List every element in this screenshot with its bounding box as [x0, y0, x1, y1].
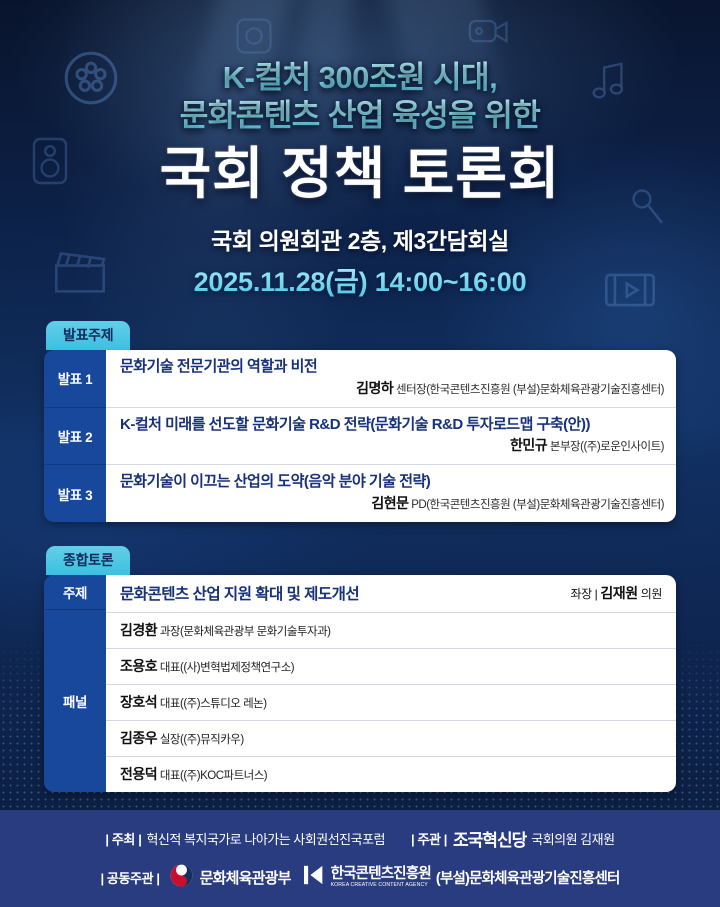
panelist-name: 김종우	[120, 730, 157, 746]
kocca-center-name: (부설)문화체육관광기술진흥센터	[436, 867, 620, 888]
presentation-label: 발표 2	[44, 408, 106, 466]
kocca-text: 한국콘텐츠진흥원 KOREA CREATIVE CONTENT AGENCY	[331, 867, 431, 889]
panelist-name: 김경환	[120, 622, 157, 638]
title-line-2: 문화콘텐츠 산업 육성을 위한	[0, 96, 720, 136]
kocca-name-kr: 한국콘텐츠진흥원	[331, 867, 431, 882]
panelist-affiliation: 대표((주)KOC파트너스)	[160, 770, 267, 782]
host-tag: | 주최 |	[105, 829, 141, 848]
discussion-chair: 좌장 | 김재원 의원	[570, 583, 662, 603]
presentation-label: 발표 1	[44, 350, 106, 408]
poster: K-컬처 300조원 시대, 문화콘텐츠 산업 육성을 위한 국회 정책 토론회…	[0, 0, 720, 907]
discussion-table: 주제 패널 문화콘텐츠 산업 지원 확대 및 제도개선 좌장 | 김재원 의원 …	[44, 575, 676, 792]
panel-label: 패널	[44, 610, 106, 792]
table-row: 문화기술 전문기관의 역할과 비전 김명하 센터장(한국콘텐츠진흥원 (부설)문…	[106, 350, 676, 408]
presentation-title: 문화기술이 이끄는 산업의 도약(음악 분야 기술 전략)	[120, 473, 664, 492]
speaker-name: 한민규	[510, 437, 547, 453]
discussion-topic-title: 문화콘텐츠 산업 지원 확대 및 제도개선	[120, 582, 359, 604]
footer-line-1: | 주최 | 혁신적 복지국가로 나아가는 사회권선진국포럼 | 주관 | 조국…	[105, 826, 614, 851]
list-item: 전용덕 대표((주)KOC파트너스)	[106, 757, 676, 792]
presentations-content-column: 문화기술 전문기관의 역할과 비전 김명하 센터장(한국콘텐츠진흥원 (부설)문…	[106, 350, 676, 522]
panelist-affiliation: 대표((주)스튜디오 레논)	[160, 698, 267, 710]
panelist-affiliation: 과장(문화체육관광부 문화기술투자과)	[160, 626, 331, 638]
presentations-label-column: 발표 1 발표 2 발표 3	[44, 350, 106, 522]
chair-prefix: 좌장 |	[570, 587, 597, 601]
presentation-speaker: 한민규 본부장((주)로운인사이트)	[120, 437, 664, 455]
presentation-title: K-컬처 미래를 선도할 문화기술 R&D 전략(문화기술 R&D 투자로드맵 …	[120, 416, 664, 435]
presentation-title: 문화기술 전문기관의 역할과 비전	[120, 358, 664, 377]
list-item: 김경환 과장(문화체육관광부 문화기술투자과)	[106, 613, 676, 649]
speaker-affiliation: PD(한국콘텐츠진흥원 (부설)문화체육관광기술진흥센터)	[411, 499, 664, 511]
discussion-label-column: 주제 패널	[44, 575, 106, 792]
list-item: 조용호 대표((사)변혁법제정책연구소)	[106, 649, 676, 685]
presentations-tab: 발표주제	[46, 321, 130, 350]
organizer-party: 조국혁신당	[453, 826, 526, 851]
taegeuk-logo-icon	[170, 864, 193, 892]
kocca-name-en: KOREA CREATIVE CONTENT AGENCY	[331, 883, 431, 888]
topic-label: 주제	[44, 575, 106, 610]
table-row: 문화기술이 이끄는 산업의 도약(음악 분야 기술 전략) 김현문 PD(한국콘…	[106, 465, 676, 522]
speaker-affiliation: 센터장(한국콘텐츠진흥원 (부설)문화체육관광기술진흥센터)	[396, 384, 664, 396]
speaker-name: 김명하	[356, 380, 393, 396]
presentations-section: 발표주제 발표 1 발표 2 발표 3 문화기술 전문기관의 역할과 비전 김명…	[44, 321, 676, 522]
presentation-label: 발표 3	[44, 465, 106, 522]
ministry-name: 문화체육관광부	[200, 867, 291, 888]
kocca-logo: 한국콘텐츠진흥원 KOREA CREATIVE CONTENT AGENCY	[304, 864, 431, 891]
organizer-tag: | 주관 |	[411, 829, 447, 848]
panelist-affiliation: 실장((주)뮤직카우)	[160, 734, 244, 746]
footer-line-2: | 공동주관 | 문화체육관광부 한국콘텐츠진흥원 K	[100, 864, 619, 892]
table-row: K-컬처 미래를 선도할 문화기술 R&D 전략(문화기술 R&D 투자로드맵 …	[106, 408, 676, 466]
chair-title: 의원	[641, 587, 662, 601]
discussion-section: 종합토론 주제 패널 문화콘텐츠 산업 지원 확대 및 제도개선 좌장 | 김재…	[44, 546, 676, 792]
organizer-person: 국회의원 김재원	[531, 829, 614, 848]
chair-name: 김재원	[600, 585, 637, 601]
discussion-tab: 종합토론	[46, 546, 130, 575]
datetime-text: 2025.11.28(금) 14:00~16:00	[0, 260, 720, 299]
panelist-name: 전용덕	[120, 766, 157, 782]
panelist-affiliation: 대표((사)변혁법제정책연구소)	[160, 662, 294, 674]
venue-text: 국회 의원회관 2층, 제3간담회실	[0, 222, 720, 256]
panelist-name: 장호석	[120, 694, 157, 710]
presentations-table: 발표 1 발표 2 발표 3 문화기술 전문기관의 역할과 비전 김명하 센터장…	[44, 350, 676, 522]
list-item: 김종우 실장((주)뮤직카우)	[106, 721, 676, 757]
discussion-content-column: 문화콘텐츠 산업 지원 확대 및 제도개선 좌장 | 김재원 의원 김경환 과장…	[106, 575, 676, 792]
presentation-speaker: 김현문 PD(한국콘텐츠진흥원 (부설)문화체육관광기술진흥센터)	[120, 495, 664, 513]
title-line-1: K-컬처 300조원 시대,	[0, 58, 720, 98]
host-name: 혁신적 복지국가로 나아가는 사회권선진국포럼	[146, 829, 385, 848]
list-item: 장호석 대표((주)스튜디오 레논)	[106, 685, 676, 721]
presentation-speaker: 김명하 센터장(한국콘텐츠진흥원 (부설)문화체육관광기술진흥센터)	[120, 380, 664, 398]
speaker-name: 김현문	[371, 495, 408, 511]
co-organizer-tag: | 공동주관 |	[100, 868, 159, 887]
panelist-name: 조용호	[120, 658, 157, 674]
table-row: 문화콘텐츠 산업 지원 확대 및 제도개선 좌장 | 김재원 의원	[106, 575, 676, 613]
page-title: 국회 정책 토론회	[0, 143, 720, 205]
poster-footer: | 주최 | 혁신적 복지국가로 나아가는 사회권선진국포럼 | 주관 | 조국…	[0, 810, 720, 907]
kocca-k-mark-icon	[304, 864, 326, 891]
poster-header: K-컬처 300조원 시대, 문화콘텐츠 산업 육성을 위한 국회 정책 토론회…	[0, 0, 720, 299]
speaker-affiliation: 본부장((주)로운인사이트)	[550, 441, 664, 453]
